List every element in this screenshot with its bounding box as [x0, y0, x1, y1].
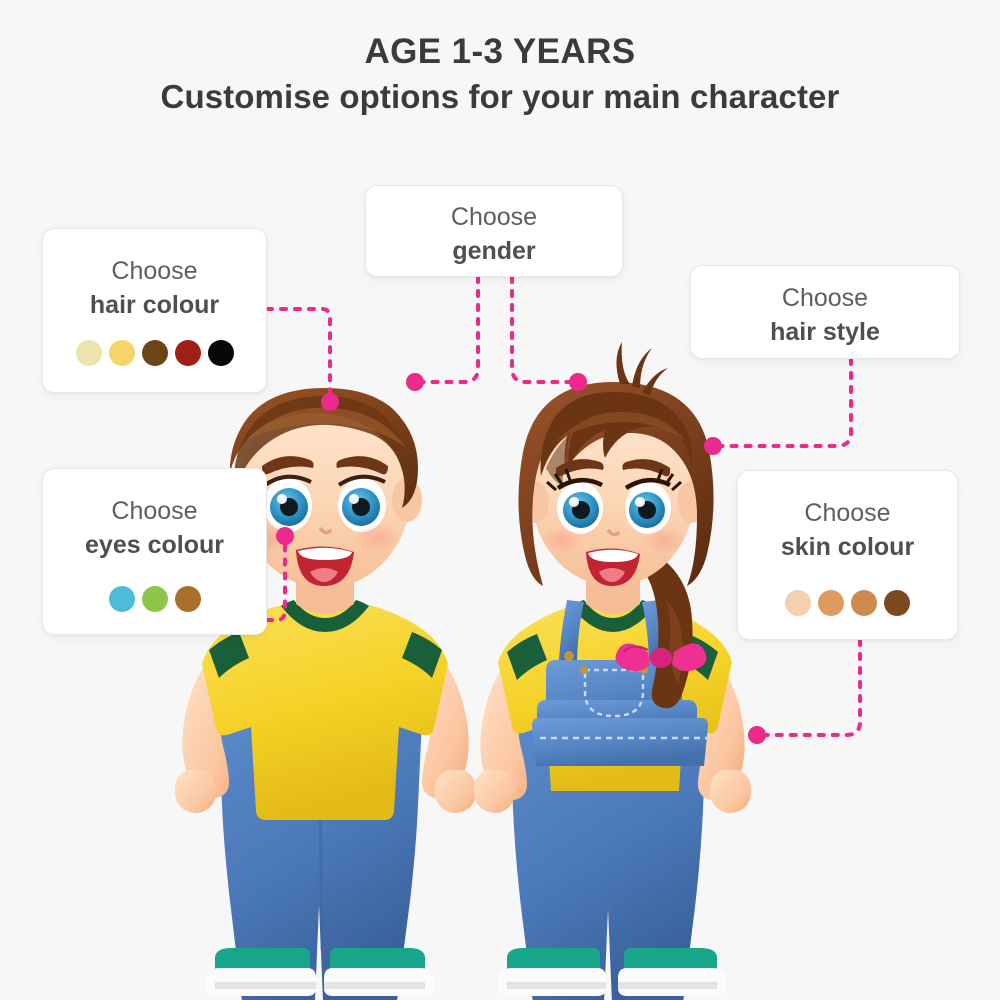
- gender-label-line1: Choose: [451, 201, 537, 234]
- swatch-light[interactable]: [785, 590, 811, 616]
- swatch-brown[interactable]: [175, 586, 201, 612]
- title-line-2: Customise options for your main characte…: [0, 74, 1000, 120]
- characters-illustration: [0, 300, 1000, 1000]
- skin-colour-label-line2: skin colour: [781, 530, 914, 564]
- gender-label-line2: gender: [452, 234, 535, 268]
- card-hair-colour[interactable]: Choose hair colour: [42, 228, 267, 393]
- swatch-auburn-red[interactable]: [175, 340, 201, 366]
- eyes-colour-label-line1: Choose: [111, 495, 197, 528]
- eyes-colour-swatches: [109, 586, 201, 612]
- page-title: AGE 1-3 YEARS Customise options for your…: [0, 30, 1000, 120]
- boy-right-fist: [435, 770, 476, 813]
- swatch-blonde-golden[interactable]: [109, 340, 135, 366]
- girl-left-fist: [474, 770, 515, 813]
- hair-colour-swatches: [76, 340, 234, 366]
- skin-colour-label-line1: Choose: [804, 497, 890, 530]
- card-hair-style[interactable]: Choose hair style: [690, 265, 960, 359]
- girl-character: [474, 342, 751, 1000]
- swatch-blue[interactable]: [109, 586, 135, 612]
- boy-left-fist: [175, 770, 216, 813]
- swatch-blonde-pale[interactable]: [76, 340, 102, 366]
- swatch-dark[interactable]: [884, 590, 910, 616]
- card-eyes-colour[interactable]: Choose eyes colour: [42, 468, 267, 635]
- boy-shoes: [206, 948, 434, 996]
- skin-colour-swatches: [785, 590, 910, 616]
- hair-style-label-line2: hair style: [770, 315, 880, 349]
- title-line-1: AGE 1-3 YEARS: [0, 30, 1000, 74]
- hair-colour-label-line2: hair colour: [90, 288, 219, 322]
- swatch-black[interactable]: [208, 340, 234, 366]
- girl-right-fist: [710, 770, 751, 813]
- swatch-brown[interactable]: [142, 340, 168, 366]
- swatch-green[interactable]: [142, 586, 168, 612]
- card-skin-colour[interactable]: Choose skin colour: [737, 470, 958, 640]
- swatch-medium[interactable]: [818, 590, 844, 616]
- hair-colour-label-line1: Choose: [111, 255, 197, 288]
- hair-style-label-line1: Choose: [782, 282, 868, 315]
- card-gender[interactable]: Choose gender: [365, 185, 623, 277]
- illustration-stage: AGE 1-3 YEARS Customise options for your…: [0, 0, 1000, 1000]
- swatch-tan[interactable]: [851, 590, 877, 616]
- eyes-colour-label-line2: eyes colour: [85, 528, 224, 562]
